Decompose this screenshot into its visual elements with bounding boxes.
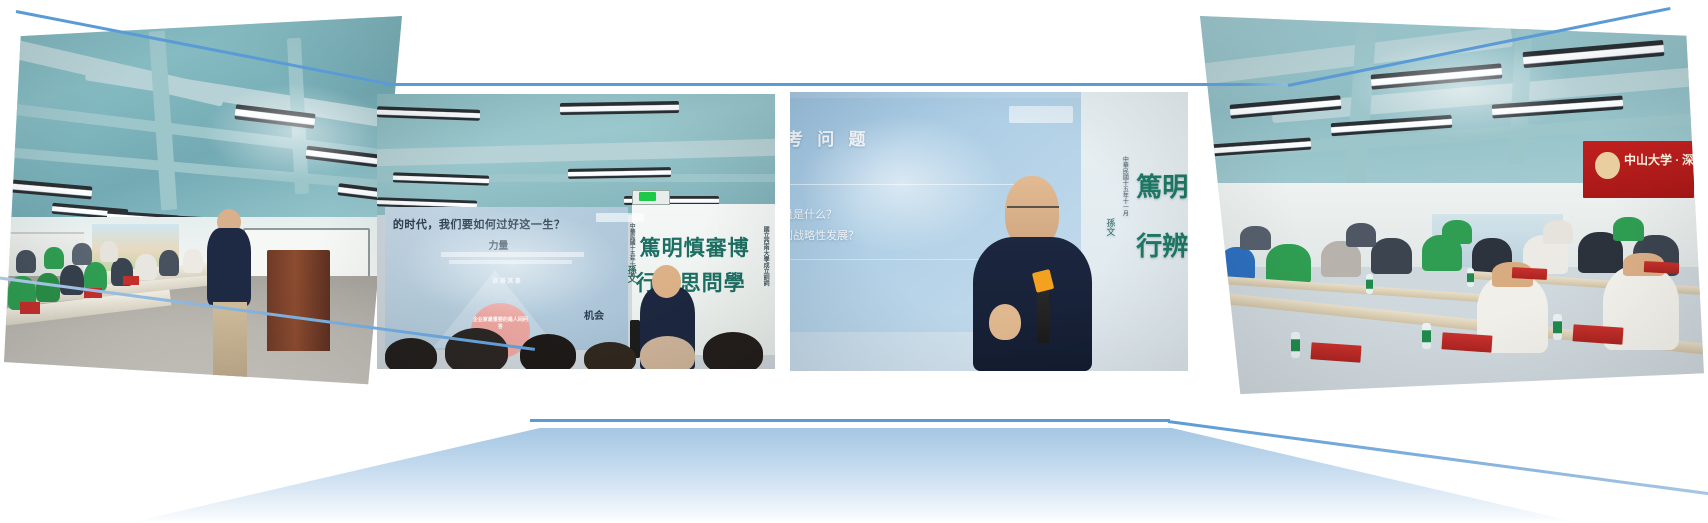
slide-title-line: 的时代，我们要如何过好这一生？ bbox=[393, 216, 566, 232]
photo-inner-left[interactable]: 的时代，我们要如何过好这一生？ 力量 企业家最重要的是人间问答 欲 善 其 事 … bbox=[377, 94, 775, 369]
wall-calligraphy-side-top: 中華民國十五年十一月 bbox=[628, 223, 636, 278]
photo-inner-right-content: 考 问 题 量是什么？ 到战略性发展？ 篤明 行辨 中華民國十五年十一月 孫文 bbox=[790, 92, 1188, 371]
slide-logo bbox=[1009, 106, 1073, 123]
slide-label-power: 力量 bbox=[488, 237, 508, 252]
wall-calligraphy-line2: 行辨 bbox=[1136, 226, 1188, 263]
slide-label-opportunity: 机会 bbox=[584, 307, 604, 322]
wall-calligraphy-side-left: 孫文 bbox=[1104, 218, 1117, 236]
wall-calligraphy-side-right: 國立西南大學成立訓詞 bbox=[761, 226, 770, 286]
slide-canvas: 的时代，我们要如何过好这一生？ 力量 企业家最重要的是人间问答 欲 善 其 事 … bbox=[0, 0, 1708, 523]
name-card bbox=[1572, 324, 1623, 344]
name-card bbox=[1441, 332, 1492, 352]
photo-inner-right[interactable]: 考 问 题 量是什么？ 到战略性发展？ 篤明 行辨 中華民國十五年十一月 孫文 bbox=[790, 92, 1188, 371]
slide-bullet-2: 到战略性发展？ bbox=[790, 227, 859, 243]
photo-outer-left[interactable] bbox=[4, 16, 402, 388]
slide-heading: 考 问 题 bbox=[790, 125, 871, 150]
photo-outer-right[interactable]: 中山大学 · 深圳 bbox=[1200, 16, 1704, 396]
name-card bbox=[1643, 261, 1679, 273]
photo-outer-right-content: 中山大学 · 深圳 bbox=[1200, 16, 1704, 396]
name-card bbox=[1512, 267, 1548, 279]
accent-rule-bottom bbox=[530, 419, 1170, 422]
name-card bbox=[1310, 343, 1361, 363]
photo-outer-left-content bbox=[4, 16, 402, 388]
wall-calligraphy-side-top: 中華民國十五年十一月 bbox=[1120, 156, 1129, 216]
wall-calligraphy-line1: 篤明慎審博 bbox=[640, 232, 750, 262]
slide-bullet-1: 量是什么？ bbox=[790, 206, 837, 222]
accent-rule-top bbox=[384, 83, 1286, 86]
university-banner: 中山大学 · 深圳 bbox=[1583, 141, 1694, 198]
university-banner-text: 中山大学 · 深圳 bbox=[1624, 151, 1704, 168]
stage-floor bbox=[0, 428, 1708, 523]
wall-calligraphy-line1: 篤明 bbox=[1136, 167, 1188, 204]
photo-inner-left-content: 的时代，我们要如何过好这一生？ 力量 企业家最重要的是人间问答 欲 善 其 事 … bbox=[377, 94, 775, 369]
slide-label-mid: 欲 善 其 事 bbox=[492, 276, 521, 285]
university-seal-icon bbox=[1595, 152, 1619, 179]
